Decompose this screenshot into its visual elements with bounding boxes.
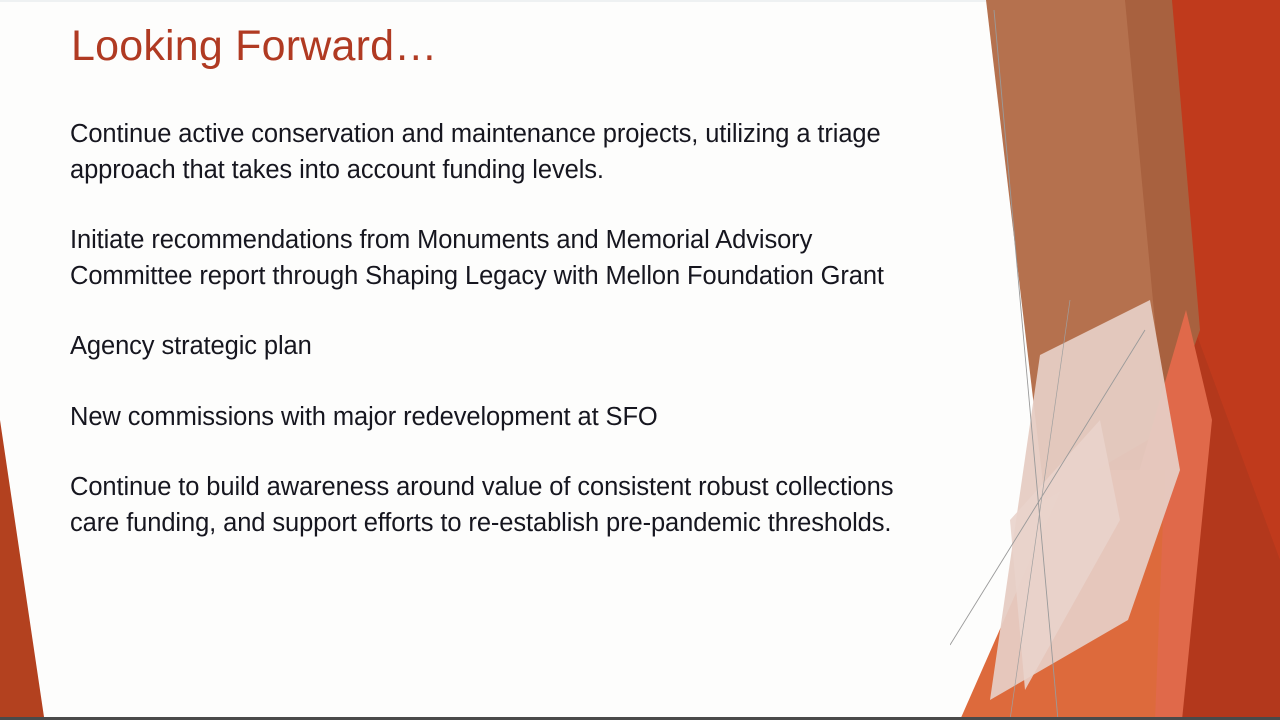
body-paragraph-3: Agency strategic plan [70, 329, 935, 365]
shape-red-orange-column [1172, 0, 1280, 560]
shape-dark-rust-base [1070, 0, 1280, 720]
angled-ribbons-svg [950, 0, 1280, 720]
shape-bright-orange-wedge [960, 470, 1165, 720]
slide-top-border [0, 0, 1280, 2]
body-paragraph-5: Continue to build awareness around value… [70, 470, 935, 541]
body-paragraph-1: Continue active conservation and mainten… [70, 117, 935, 188]
shape-tan-shadow [1125, 0, 1200, 430]
presentation-slide: Looking Forward… Continue active conserv… [0, 0, 1280, 720]
shape-pale-pink-wedge [990, 300, 1180, 700]
shape-tan-band [986, 0, 1195, 500]
shape-pale-pink-sliver [1010, 420, 1120, 690]
hairline-short-diagonal [1010, 300, 1070, 720]
shape-left-corner-triangle [0, 420, 44, 717]
shape-coral-wedge [1100, 310, 1212, 720]
slide-title: Looking Forward… [71, 22, 437, 71]
body-paragraph-4: New commissions with major redevelopment… [70, 400, 935, 436]
hairline-long-diagonal [994, 10, 1058, 720]
body-paragraph-2: Initiate recommendations from Monuments … [70, 223, 935, 294]
hairline-cross-diagonal [950, 330, 1145, 645]
slide-body: Continue active conservation and mainten… [70, 117, 935, 541]
decorative-graphic-right [950, 0, 1280, 720]
